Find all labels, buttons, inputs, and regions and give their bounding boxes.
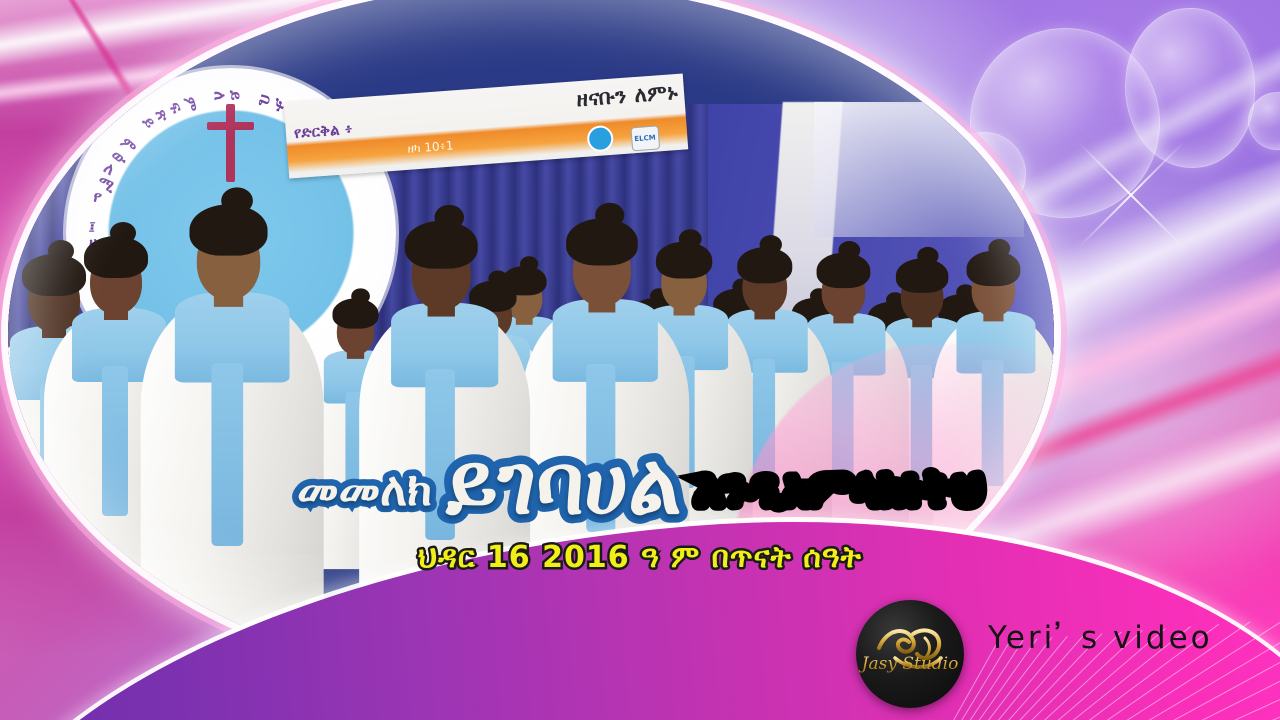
title-right-word: እንዲአምላክነትህ bbox=[695, 461, 983, 517]
title-left-word: መመለክ bbox=[297, 466, 432, 512]
studio-logo: Jasy Studio bbox=[856, 600, 964, 708]
bubble-icon bbox=[1125, 8, 1255, 168]
channel-watermark: Yeri ̓ s video bbox=[988, 620, 1213, 656]
studio-logo-text: Jasy Studio bbox=[856, 654, 964, 674]
subtitle-text: ህዳር 16 2016 ዓ ም በጥናት ሰዓት bbox=[0, 540, 1280, 575]
title-block: መመለክ ይገባሀል እንዲአምላክነትህ bbox=[0, 452, 1280, 526]
title-main-word: ይገባሀል bbox=[446, 442, 681, 526]
video-thumbnail: ለይ ቤተ ክርስቲያኔን እሠራለሁ፤ የሚለውም ይጽፍም ለይ ቤታ የድ… bbox=[0, 0, 1280, 720]
